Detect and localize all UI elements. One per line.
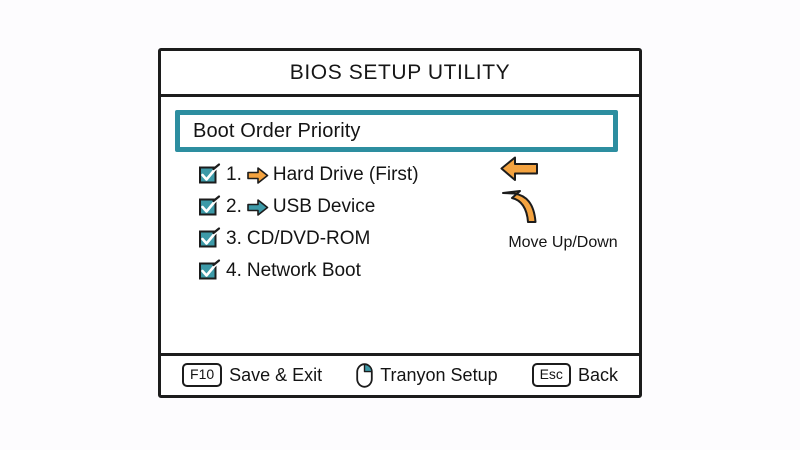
key-badge-f10: F10 xyxy=(182,363,222,386)
title-bar: BIOS SETUP UTILITY xyxy=(161,51,639,97)
checkbox-icon[interactable] xyxy=(199,198,217,216)
list-item-index: 1. xyxy=(226,164,242,186)
footer-label-tranyon-setup: Tranyon Setup xyxy=(380,365,497,386)
footer-item-back[interactable]: Esc Back xyxy=(532,363,618,386)
list-item-label: Network Boot xyxy=(247,260,361,282)
list-item[interactable]: 4. Network Boot xyxy=(199,255,499,287)
mouse-icon xyxy=(356,363,373,388)
move-hint-icons xyxy=(491,155,641,229)
list-item-index: 2. xyxy=(226,196,242,218)
move-hint-label: Move Up/Down xyxy=(491,234,635,252)
checkbox-icon[interactable] xyxy=(199,262,217,280)
list-item[interactable]: 1. Hard Drive (First) xyxy=(199,159,499,191)
section-header-boot-order[interactable]: Boot Order Priority xyxy=(175,110,618,152)
key-badge-esc: Esc xyxy=(532,363,571,386)
footer-item-save-exit[interactable]: F10 Save & Exit xyxy=(182,363,322,386)
checkbox-icon[interactable] xyxy=(199,230,217,248)
footer-item-tranyon-setup[interactable]: Tranyon Setup xyxy=(356,363,497,388)
footer-label-back: Back xyxy=(578,365,618,386)
list-item-index: 3. xyxy=(226,228,242,250)
page-title: BIOS SETUP UTILITY xyxy=(290,61,510,85)
list-item-label: Hard Drive (First) xyxy=(273,164,419,186)
arrow-curve-up-left-icon[interactable] xyxy=(499,189,641,229)
move-up-down-hint: Move Up/Down xyxy=(491,155,641,252)
arrow-left-icon[interactable] xyxy=(499,155,641,187)
bios-window: BIOS SETUP UTILITY Boot Order Priority 1… xyxy=(158,48,642,398)
footer-bar: F10 Save & Exit Tranyon Setup Esc Back xyxy=(161,353,639,394)
list-item[interactable]: 3. CD/DVD-ROM xyxy=(199,223,499,255)
arrow-right-orange-icon xyxy=(247,166,269,184)
bios-body: Boot Order Priority 1. xyxy=(161,97,639,394)
arrow-right-teal-icon xyxy=(247,198,269,216)
list-item-label: USB Device xyxy=(273,196,375,218)
boot-order-list: 1. Hard Drive (First) 2. xyxy=(199,159,499,287)
section-title: Boot Order Priority xyxy=(180,120,361,143)
list-item-index: 4. xyxy=(226,260,242,282)
checkbox-icon[interactable] xyxy=(199,166,217,184)
footer-label-save-exit: Save & Exit xyxy=(229,365,322,386)
list-item[interactable]: 2. USB Device xyxy=(199,191,499,223)
list-item-label: CD/DVD-ROM xyxy=(247,228,371,250)
